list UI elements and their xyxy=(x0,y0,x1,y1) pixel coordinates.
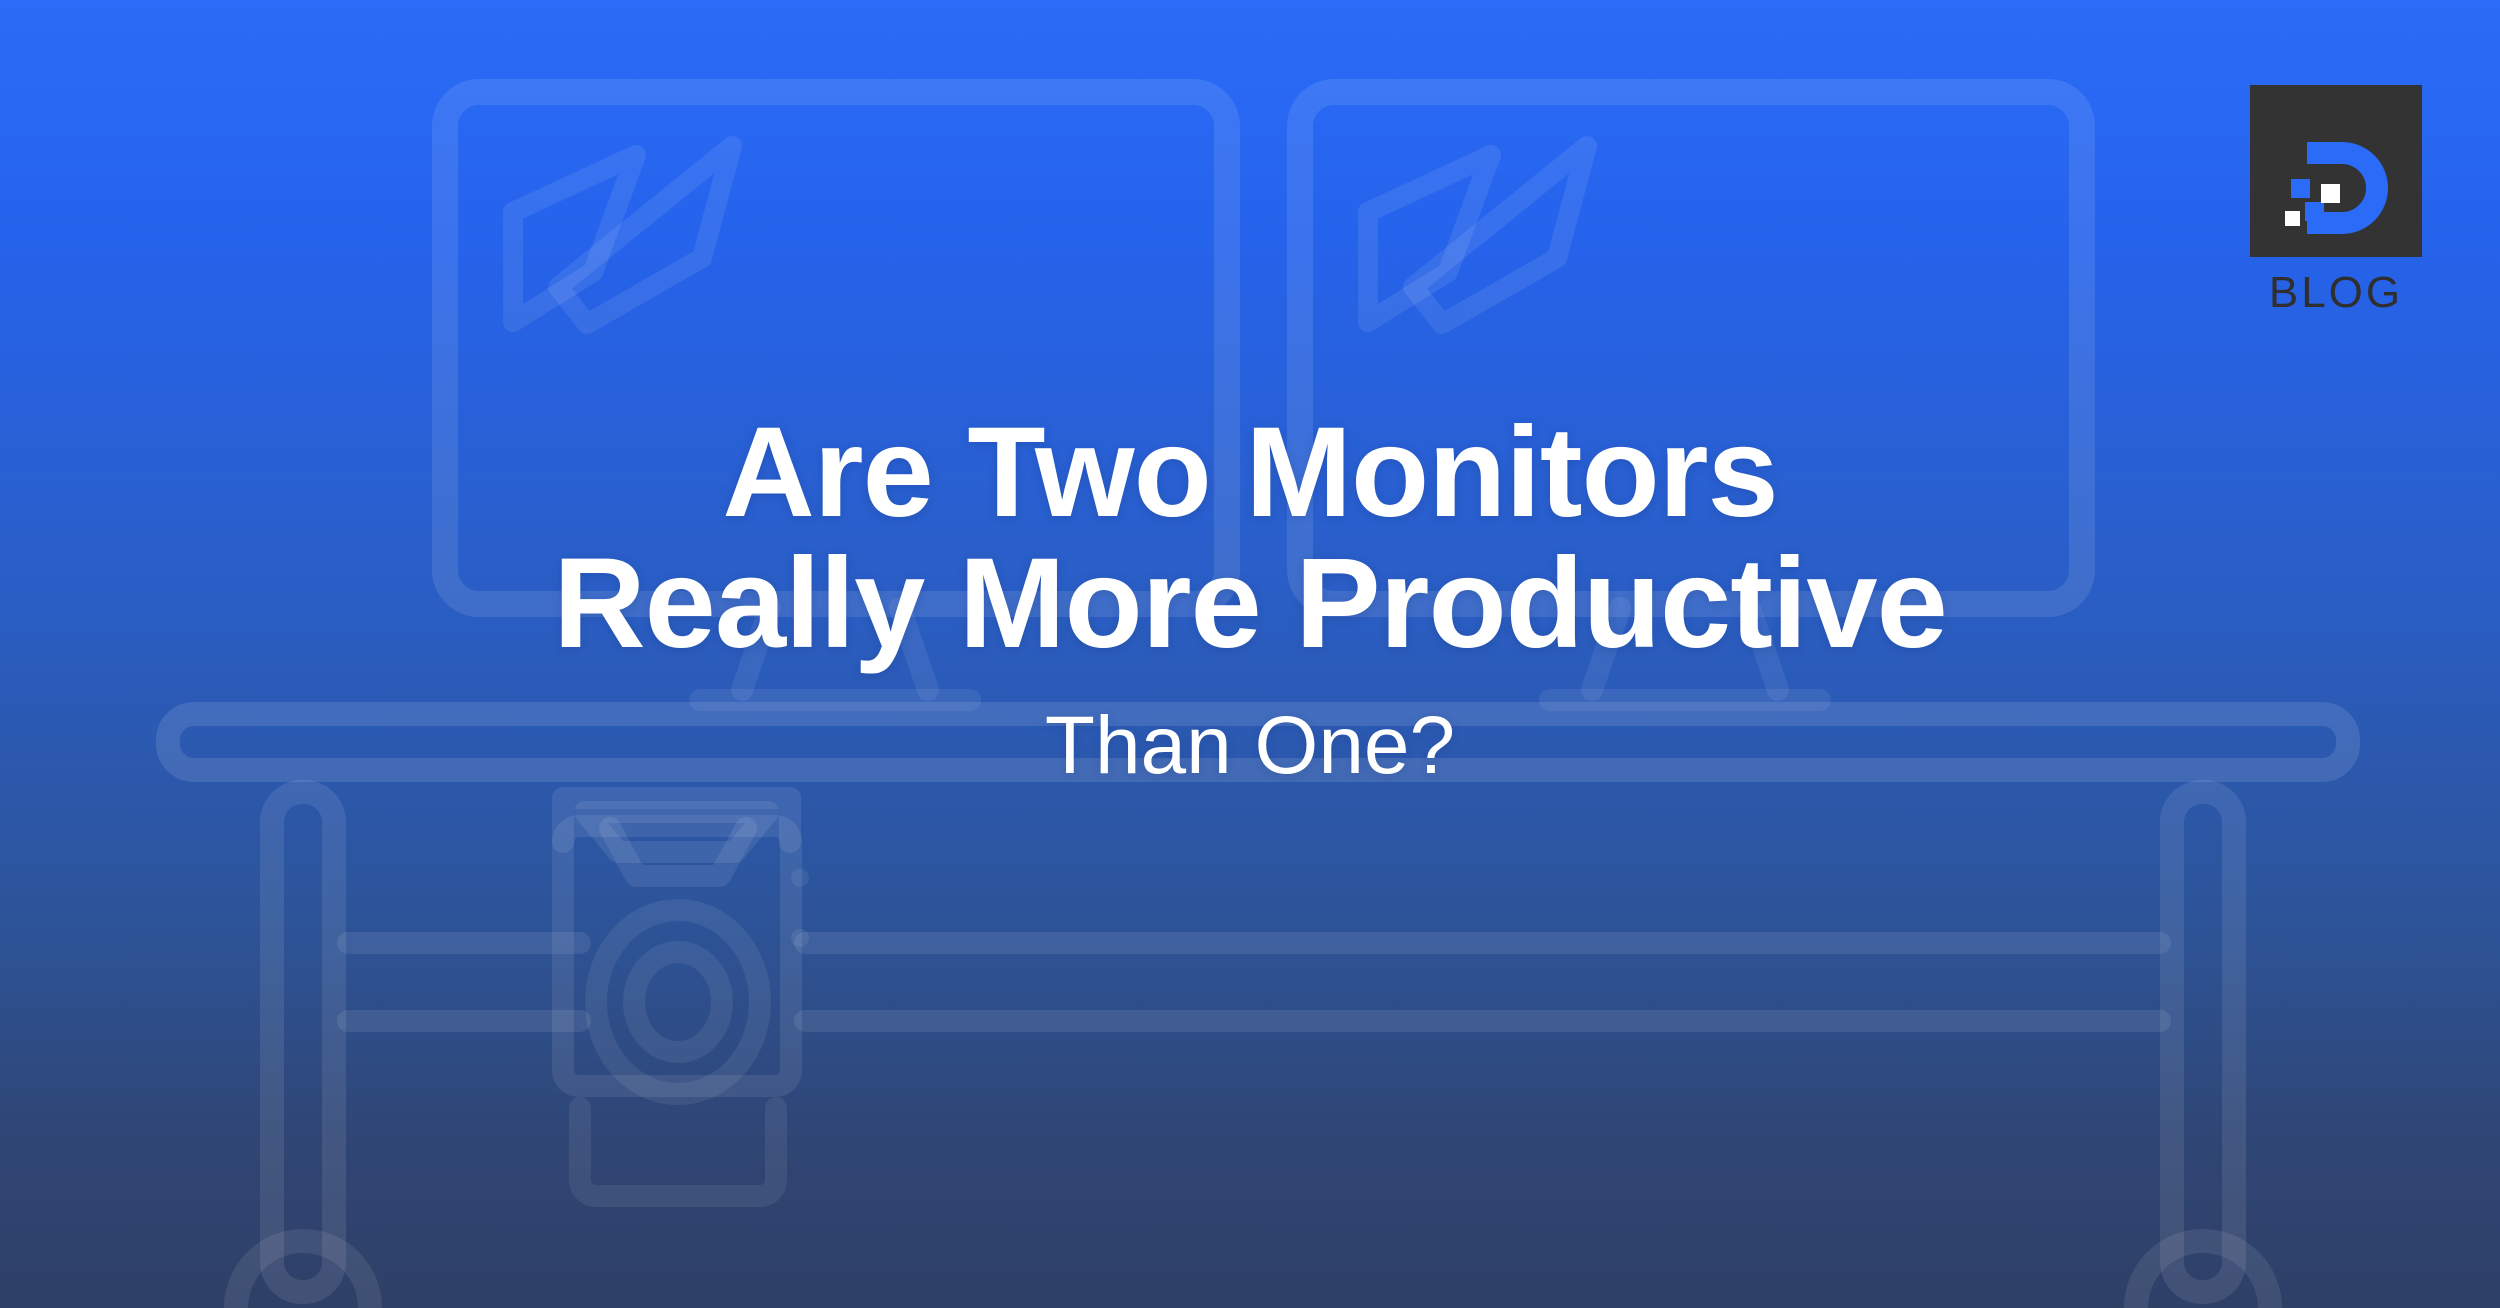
brand-wordmark: BLOG xyxy=(2269,271,2403,315)
headline-group: Are Two Monitors Really More Productive … xyxy=(0,408,2500,789)
cable-lines xyxy=(348,943,2160,1021)
headline-line-1: Are Two Monitors xyxy=(90,408,2410,539)
headline-line-2: Really More Productive xyxy=(90,539,2410,670)
right-monitor-slash-icon xyxy=(1368,146,1587,324)
desk-leg-right xyxy=(2136,792,2270,1308)
digital-d-logo-icon xyxy=(2250,85,2422,257)
headline-subline: Than One? xyxy=(90,703,2410,789)
pc-tower xyxy=(563,798,809,1196)
brand-logo[interactable]: BLOG xyxy=(2250,85,2422,315)
desk-leg-left xyxy=(236,792,370,1308)
poster-canvas: BLOG Are Two Monitors Really More Produc… xyxy=(0,0,2500,1308)
left-monitor-slash-icon xyxy=(513,146,732,324)
